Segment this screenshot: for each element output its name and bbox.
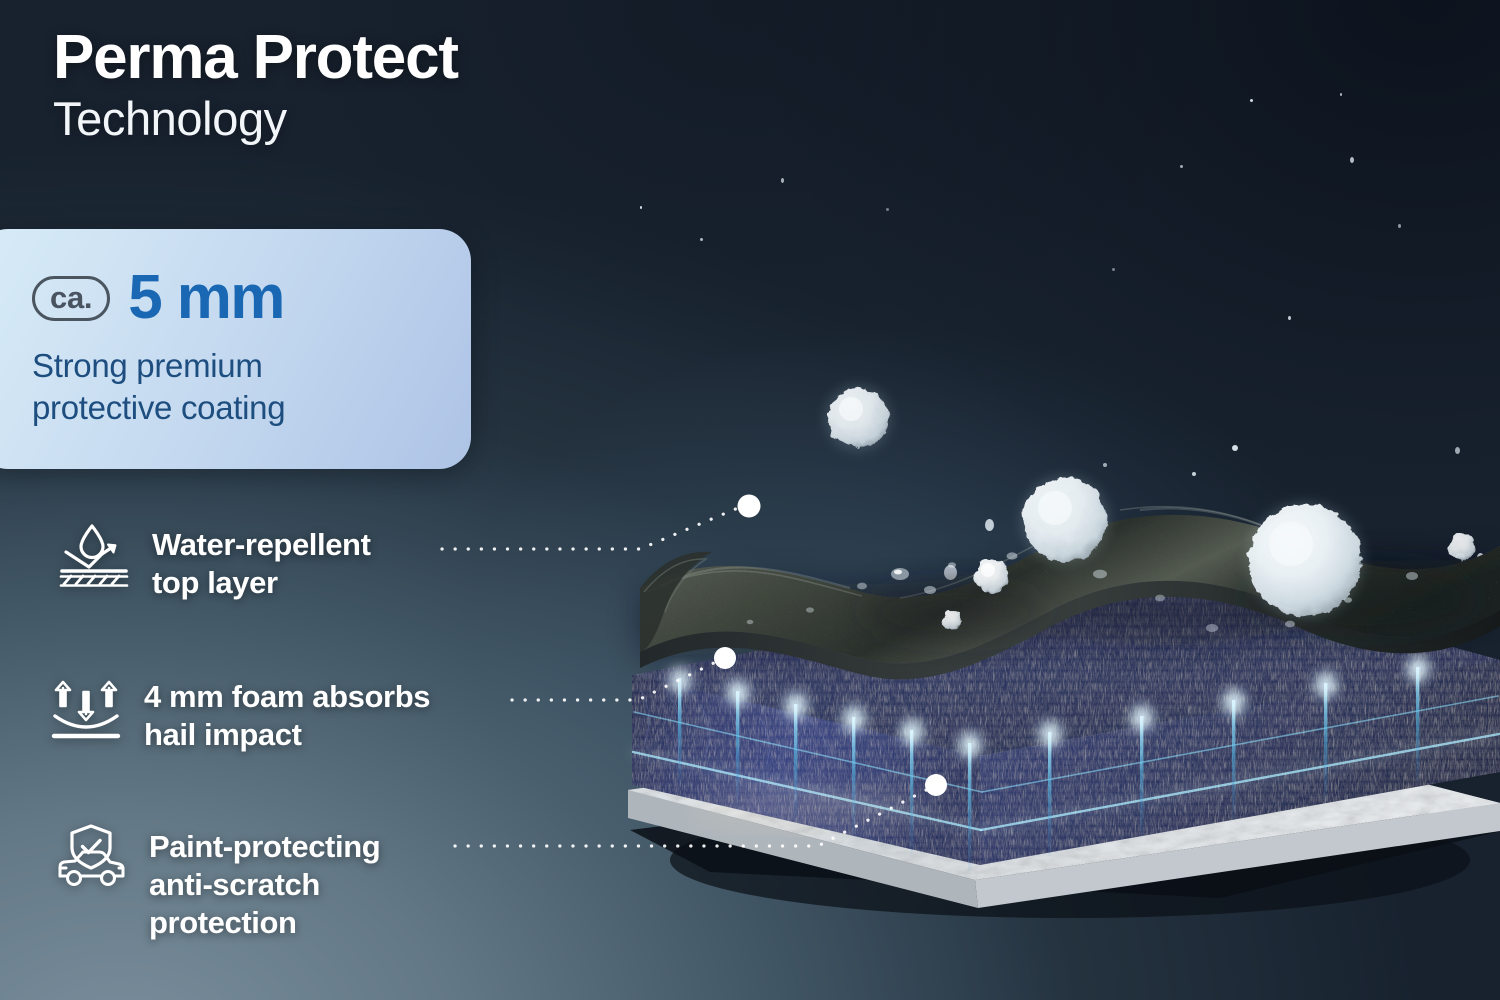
page-title: Perma Protect Technology [53, 26, 458, 147]
ice-particle [781, 178, 784, 183]
feature-2-line-2: anti-scratch [149, 866, 380, 904]
thickness-value: 5 mm [128, 267, 284, 329]
approx-pill: ca. [32, 276, 110, 321]
feature-0-line-2: top layer [152, 564, 371, 602]
thickness-badge: ca. 5 mm Strong premium protective coati… [0, 229, 471, 469]
title-subtitle: Technology [53, 91, 458, 146]
badge-description-line-1: Strong premium [32, 345, 471, 387]
ice-particle [1288, 316, 1291, 320]
feature-water-repellent: Water-repellent top layer [58, 520, 371, 602]
car-shield-check-icon [55, 822, 127, 894]
badge-description: Strong premium protective coating [32, 345, 471, 429]
feature-foam-absorbs-hail-label: 4 mm foam absorbs hail impact [144, 672, 430, 754]
ice-particle [886, 208, 889, 211]
ice-particle [1398, 224, 1401, 228]
feature-2-line-1: Paint-protecting [149, 828, 380, 866]
ice-particle [1250, 99, 1253, 102]
thickness-row: ca. 5 mm [32, 267, 471, 329]
feature-2-line-3: protection [149, 904, 380, 942]
feature-1-line-1: 4 mm foam absorbs [144, 678, 430, 716]
feature-foam-absorbs-hail: 4 mm foam absorbs hail impact [50, 672, 430, 754]
ice-particle [640, 206, 642, 209]
feature-1-line-2: hail impact [144, 716, 430, 754]
ice-particle [1112, 268, 1115, 271]
badge-description-line-2: protective coating [32, 387, 471, 429]
feature-water-repellent-label: Water-repellent top layer [152, 520, 371, 602]
feature-0-line-1: Water-repellent [152, 526, 371, 564]
ice-particle [1180, 165, 1183, 168]
ice-particle [1350, 157, 1354, 163]
title-main: Perma Protect [53, 26, 458, 89]
water-droplet-repel-icon [58, 520, 130, 592]
ice-particle [1340, 93, 1342, 96]
water-repellent-top-layer [640, 385, 1500, 679]
layered-material-illustration [600, 360, 1500, 920]
feature-paint-protection-label: Paint-protecting anti-scratch protection [149, 822, 380, 941]
infographic-canvas: Perma Protect Technology ca. 5 mm Strong… [0, 0, 1500, 1000]
foam-impact-absorb-icon [50, 672, 122, 744]
ice-particle [700, 238, 703, 241]
feature-paint-protection: Paint-protecting anti-scratch protection [55, 822, 380, 941]
